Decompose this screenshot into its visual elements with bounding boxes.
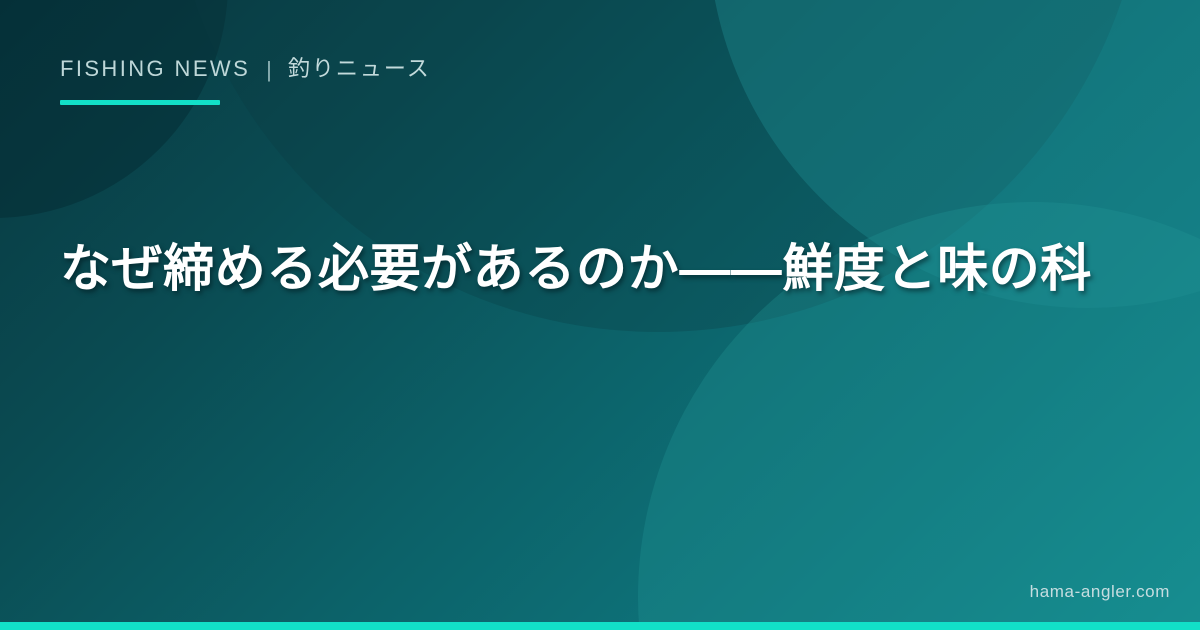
bottom-accent-bar xyxy=(0,622,1200,630)
kicker-label-ja: 釣りニュース xyxy=(288,58,431,80)
ogp-card: FISHING NEWS | 釣りニュース なぜ締める必要があるのか——鮮度と味… xyxy=(0,0,1200,630)
card-content: FISHING NEWS | 釣りニュース なぜ締める必要があるのか——鮮度と味… xyxy=(0,0,1200,630)
headline-wrap: なぜ締める必要があるのか——鮮度と味の科 xyxy=(60,236,1140,302)
page-title: なぜ締める必要があるのか——鮮度と味の科 xyxy=(60,236,1140,302)
kicker: FISHING NEWS | 釣りニュース xyxy=(60,58,1140,80)
site-domain: hama-angler.com xyxy=(1030,582,1170,602)
kicker-separator: | xyxy=(266,59,272,81)
accent-underline xyxy=(60,100,220,105)
kicker-label-en: FISHING NEWS xyxy=(60,58,250,80)
